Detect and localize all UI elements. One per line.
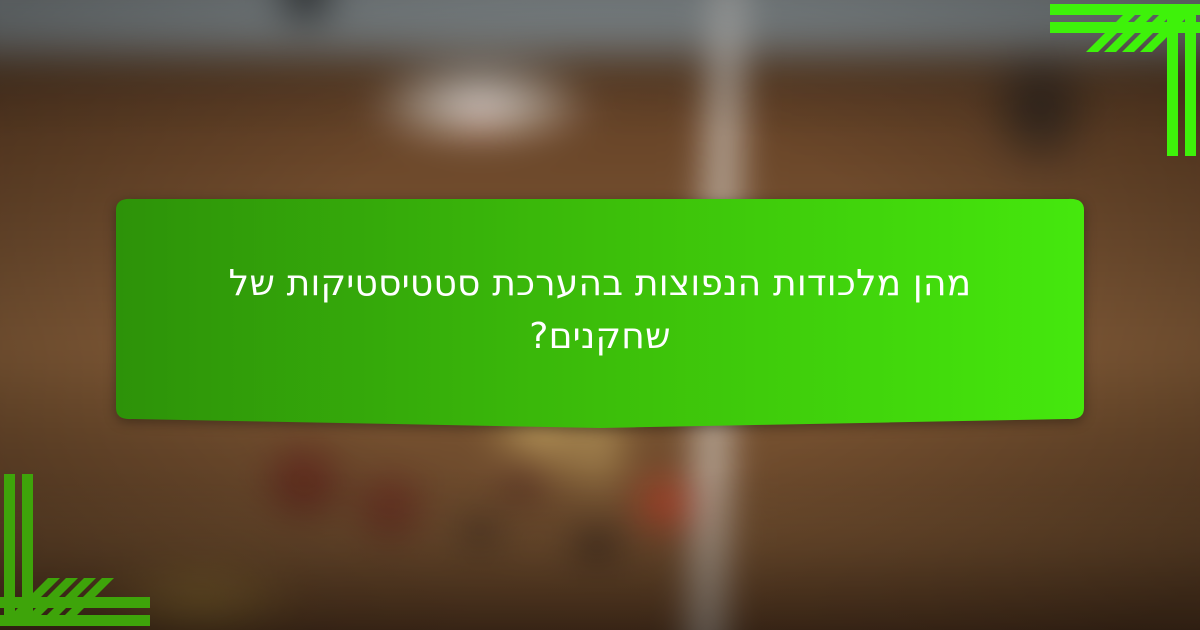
question-banner: מהן מלכודות הנפוצות בהערכת סטטיסטיקות של… bbox=[100, 196, 1100, 428]
question-text: מהן מלכודות הנפוצות בהערכת סטטיסטיקות של… bbox=[160, 257, 1040, 364]
question-text-container: מהן מלכודות הנפוצות בהערכת סטטיסטיקות של… bbox=[100, 196, 1100, 428]
question-card-canvas: מהן מלכודות הנפוצות בהערכת סטטיסטיקות של… bbox=[0, 0, 1200, 630]
